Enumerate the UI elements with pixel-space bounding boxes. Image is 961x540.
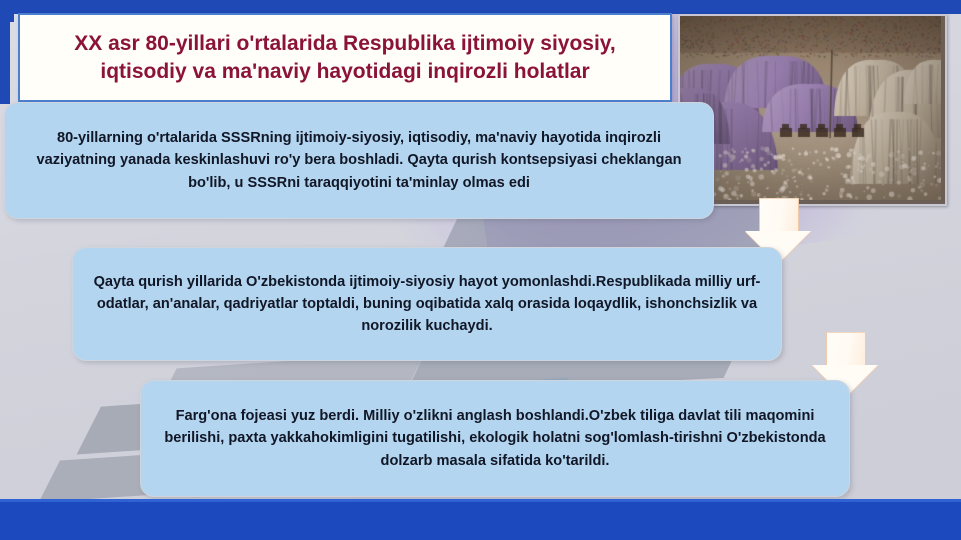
slide-canvas: XX asr 80-yillari o'rtalarida Respublika… xyxy=(0,0,961,540)
cotton-bales-photo xyxy=(678,14,947,206)
content-box-2-text: Qayta qurish yillarida O'zbekistonda ijt… xyxy=(73,265,781,344)
top-accent-band xyxy=(0,0,961,14)
content-box-3: Farg'ona fojeasi yuz berdi. Milliy o'zli… xyxy=(140,380,850,497)
content-box-3-text: Farg'ona fojeasi yuz berdi. Milliy o'zli… xyxy=(141,399,849,478)
content-box-2: Qayta qurish yillarida O'zbekistonda ijt… xyxy=(72,247,782,361)
down-arrow-1-shaft xyxy=(759,198,799,233)
left-accent-band-lower xyxy=(0,14,10,104)
cotton-bales-photo-canvas xyxy=(680,16,941,200)
down-arrow-2-shaft xyxy=(826,332,866,367)
page-title: XX asr 80-yillari o'rtalarida Respublika… xyxy=(20,30,670,85)
slide-title-card: XX asr 80-yillari o'rtalarida Respublika… xyxy=(18,13,672,102)
content-box-1: 80-yillarning o'rtalarida SSSRning ijtim… xyxy=(4,102,714,219)
bottom-accent-band xyxy=(0,499,961,540)
content-box-1-text: 80-yillarning o'rtalarida SSSRning ijtim… xyxy=(5,121,713,200)
